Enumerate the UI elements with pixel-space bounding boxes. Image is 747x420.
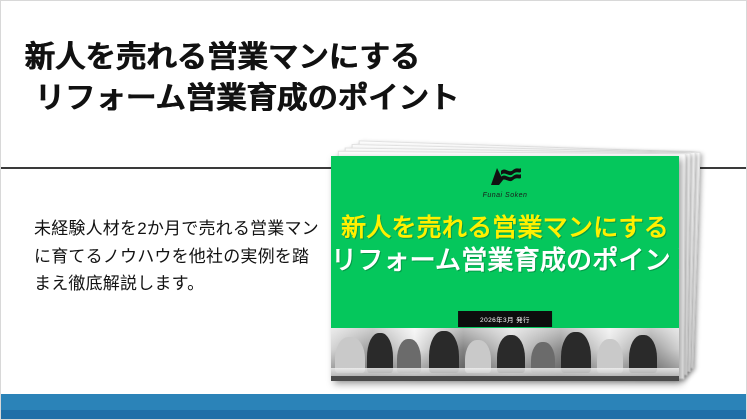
photo-figure: [561, 332, 591, 373]
headline-line-2: リフォーム営業育成のポイント: [25, 78, 585, 119]
funai-soken-wave-icon: [331, 166, 679, 191]
publication-date-badge: 2026年3月 発行: [458, 311, 552, 327]
brand-logo: Funai Soken: [331, 166, 679, 199]
photo-figure: [367, 333, 393, 373]
cover-title-line-1: 新人を売れる営業マンにする: [331, 212, 679, 244]
photo-figure: [429, 331, 459, 373]
footer-bar-lower-band: [1, 410, 747, 419]
headline-line-1: 新人を売れる営業マンにする: [25, 37, 585, 78]
footer-bar: [1, 394, 747, 419]
cover-title: 新人を売れる営業マンにする リフォーム営業育成のポイント: [331, 212, 679, 277]
booklet-stack: Funai Soken 新人を売れる営業マンにする リフォーム営業育成のポイント…: [331, 146, 731, 381]
body-paragraph: 未経験人材を2か月で売れる営業マンに育てるノウハウを他社の実例を踏まえ徹底解説し…: [34, 215, 324, 298]
brand-wordmark: Funai Soken: [331, 192, 679, 199]
photo-foreground-shadow: [331, 376, 679, 381]
slide-canvas: 新人を売れる営業マンにする リフォーム営業育成のポイント 未経験人材を2か月で売…: [0, 0, 747, 420]
footer-bar-upper-band: [1, 394, 747, 410]
body-text-block: 未経験人材を2か月で売れる営業マンに育てるノウハウを他社の実例を踏まえ徹底解説し…: [34, 215, 324, 298]
booklet-cover: Funai Soken 新人を売れる営業マンにする リフォーム営業育成のポイント…: [331, 156, 679, 381]
cover-photo: [331, 328, 679, 381]
page-title: 新人を売れる営業マンにする リフォーム営業育成のポイント: [25, 37, 585, 120]
cover-title-line-2: リフォーム営業育成のポイント: [331, 244, 679, 277]
